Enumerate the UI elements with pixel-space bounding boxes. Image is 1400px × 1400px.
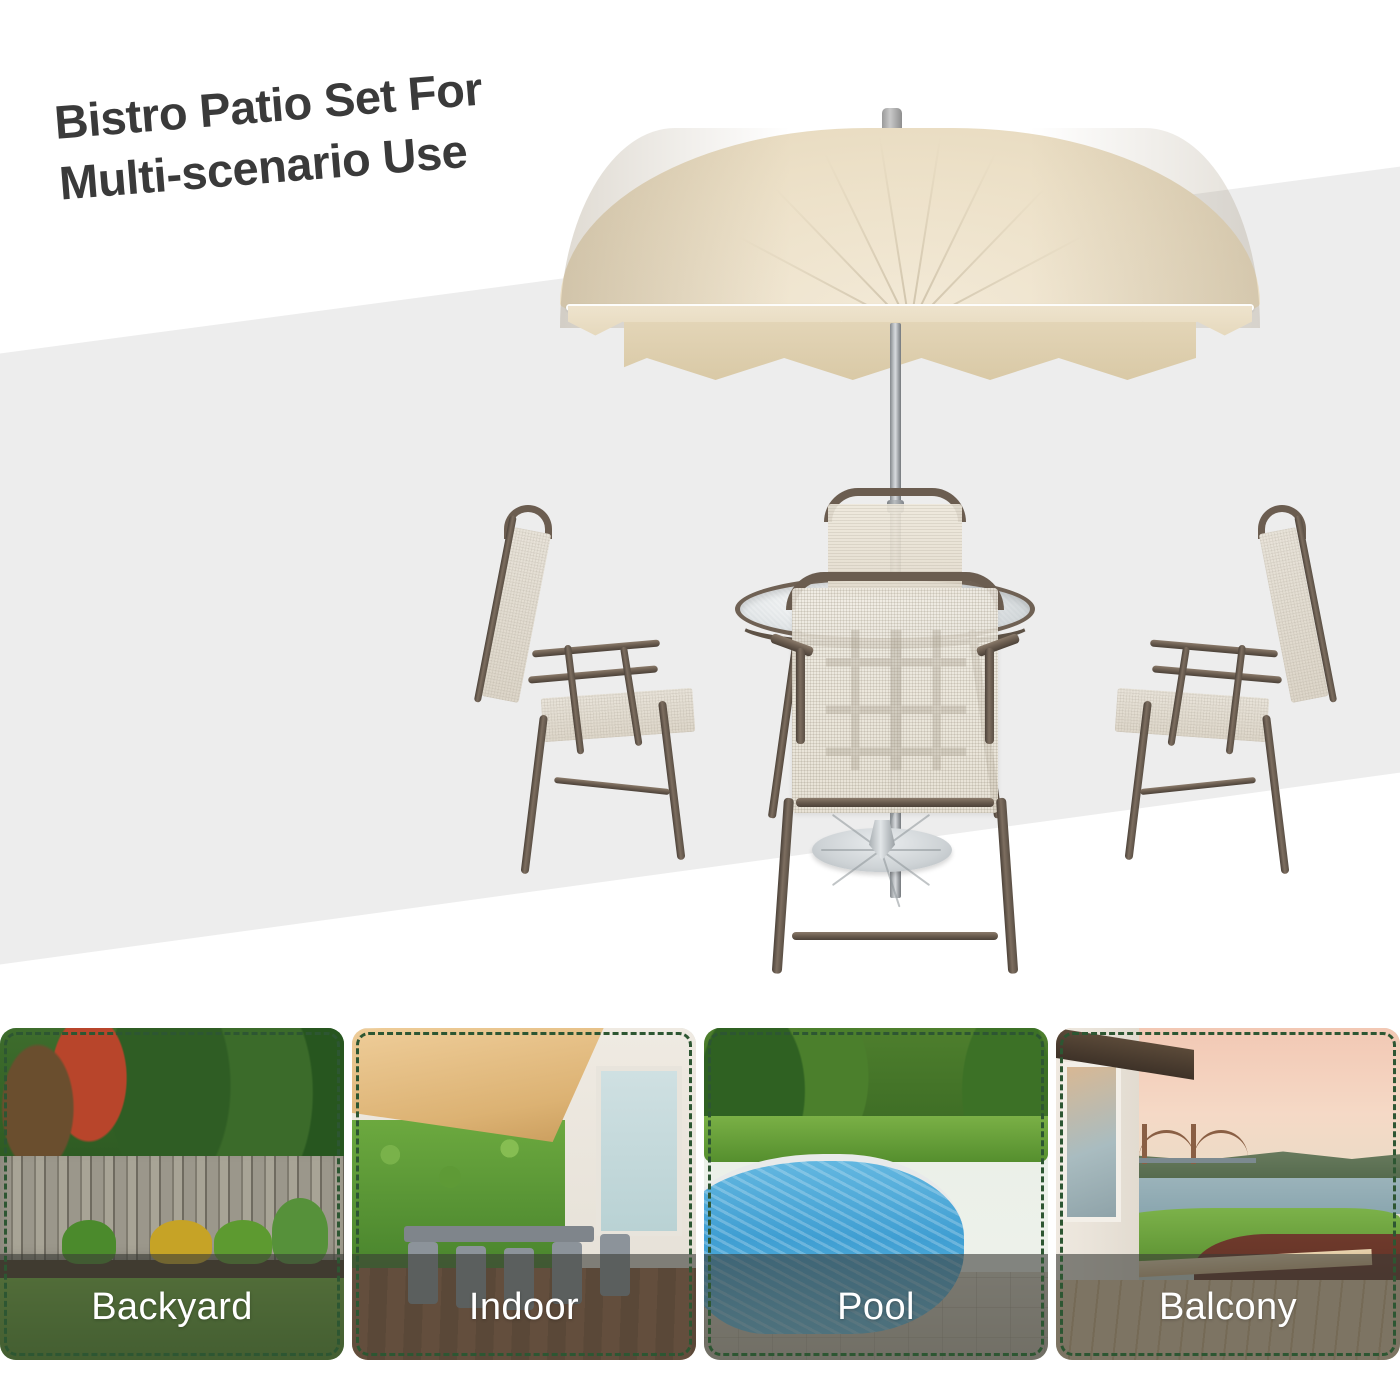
scenario-label-pool: Pool bbox=[837, 1286, 915, 1329]
folding-chair-right bbox=[1030, 505, 1330, 905]
chair-center-seat-rail bbox=[796, 798, 994, 807]
hero-section: Bistro Patio Set For Multi-scenario Use bbox=[0, 0, 1400, 1010]
umbrella-canopy bbox=[560, 128, 1260, 328]
chair-center-seethrough-pattern bbox=[826, 630, 966, 770]
chair-left-armrest-upper bbox=[532, 639, 660, 657]
chair-center-leg-left bbox=[772, 798, 794, 974]
umbrella-valance bbox=[624, 322, 1196, 380]
scenario-card-balcony[interactable]: Balcony bbox=[1056, 1028, 1400, 1360]
scenario-thumbnail-strip: Backyard Indoor bbox=[0, 1028, 1400, 1360]
scenario-label-band-backyard: Backyard bbox=[0, 1254, 344, 1360]
canopy-panel-seam bbox=[824, 153, 911, 328]
window bbox=[1062, 1062, 1121, 1222]
scenario-label-backyard: Backyard bbox=[91, 1286, 253, 1329]
scenario-label-balcony: Balcony bbox=[1159, 1286, 1297, 1329]
scenario-label-band-pool: Pool bbox=[704, 1254, 1048, 1360]
chair-left-seat-fabric bbox=[541, 688, 696, 742]
chair-center-bottom-brace bbox=[792, 932, 998, 940]
chair-center-leg-right bbox=[996, 798, 1018, 974]
glass-door bbox=[596, 1066, 682, 1236]
hedge bbox=[704, 1116, 1048, 1162]
dining-table bbox=[404, 1226, 594, 1242]
chair-right-front-leg bbox=[1262, 715, 1289, 875]
scenario-label-indoor: Indoor bbox=[469, 1286, 579, 1329]
chair-right-armrest-upper bbox=[1150, 639, 1278, 657]
chair-right-seat-fabric bbox=[1115, 688, 1270, 742]
scenario-card-pool[interactable]: Pool bbox=[704, 1028, 1048, 1360]
bridge-cable bbox=[1194, 1130, 1248, 1158]
chair-left-cross-brace bbox=[554, 777, 670, 795]
bridge-deck bbox=[1132, 1158, 1256, 1163]
chair-center-post-right bbox=[985, 648, 994, 744]
chair-right-cross-brace bbox=[1140, 777, 1256, 795]
scenario-card-backyard[interactable]: Backyard bbox=[0, 1028, 344, 1360]
chair-center-post-left bbox=[796, 648, 805, 744]
chair-left-armrest-lower bbox=[528, 665, 658, 683]
suspension-bridge bbox=[1132, 1124, 1256, 1172]
scenario-label-band-balcony: Balcony bbox=[1056, 1254, 1400, 1360]
bridge-cable bbox=[1139, 1130, 1193, 1158]
folding-chair-center bbox=[770, 480, 1020, 980]
scenario-label-band-indoor: Indoor bbox=[352, 1254, 696, 1360]
chair-left-front-leg bbox=[521, 715, 548, 875]
chair-right-armrest-lower bbox=[1152, 665, 1282, 683]
trees bbox=[0, 1028, 344, 1168]
scenario-card-indoor[interactable]: Indoor bbox=[352, 1028, 696, 1360]
